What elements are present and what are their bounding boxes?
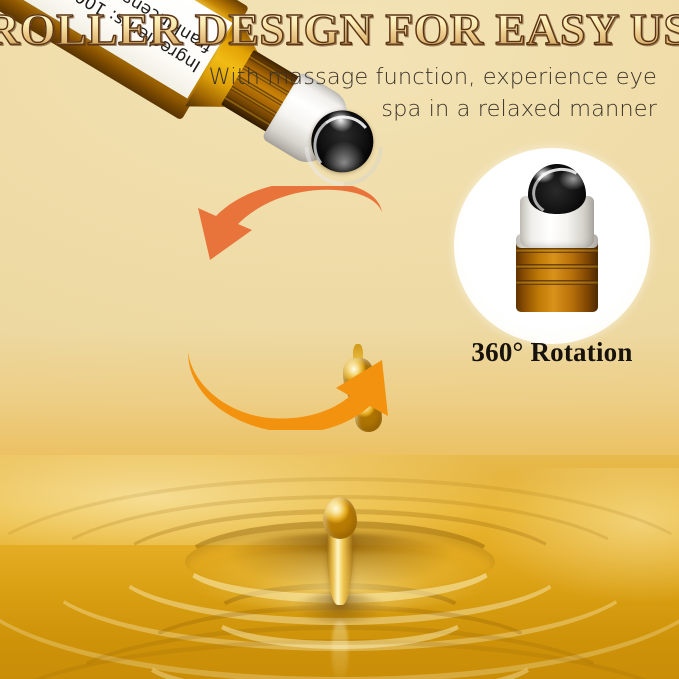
inset-thread-ridge — [516, 264, 598, 269]
subtitle-line-2: spa in a relaxed manner — [187, 94, 657, 126]
rotation-arrow-right — [186, 318, 396, 430]
rotation-arrow-left — [186, 186, 382, 284]
oil-surface — [0, 455, 679, 679]
subtitle-line-1: With massage function, experience eye — [187, 62, 657, 94]
inset-thread-ridge — [516, 248, 598, 253]
product-feature-banner: Ingredients: 100% organic c frankincense… — [0, 0, 679, 679]
page-title: ROLLER DESIGN FOR EASY USE — [0, 8, 679, 53]
rotation-caption: 360° Rotation — [454, 337, 650, 368]
splash-bead — [323, 497, 357, 539]
inset-bottle-neck — [516, 240, 598, 312]
splash-reflection — [332, 621, 348, 679]
inset-thread-ridge — [516, 280, 598, 285]
subtitle: With massage function, experience eye sp… — [187, 62, 657, 126]
